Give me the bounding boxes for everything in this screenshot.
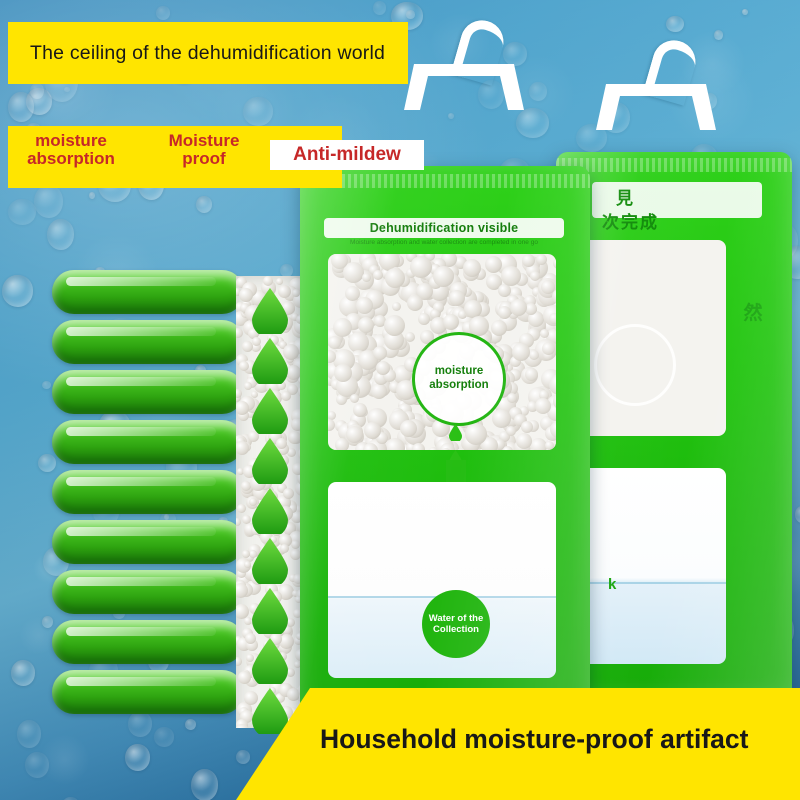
footer-text: Household moisture-proof artifact: [320, 724, 748, 755]
footer-banner: Household moisture-proof artifact: [236, 688, 800, 800]
hanger-bar: [596, 84, 716, 130]
desiccant-rod: [52, 370, 244, 414]
back-bag-seal: [556, 158, 792, 172]
dehumidifier-bag-front: Dehumidification visible Moisture absorp…: [300, 166, 590, 714]
back-chinese-line-1: 見: [616, 184, 635, 209]
desiccant-rod: [52, 470, 244, 514]
front-title-pill: Dehumidification visible: [324, 218, 564, 238]
hanger-bar: [404, 64, 524, 110]
headline-text: The ceiling of the dehumidification worl…: [30, 42, 385, 65]
back-word-label: k: [608, 576, 616, 593]
back-waterline: [576, 582, 726, 584]
hanger-back: [590, 40, 722, 152]
desiccant-rod-stack: [52, 270, 252, 730]
front-subtitle: Moisture absorption and water collection…: [328, 238, 560, 247]
back-window-bottom: [576, 468, 726, 664]
feature-tag-anti-mildew: Anti-mildew: [270, 140, 424, 170]
back-circle-mark: [594, 324, 676, 406]
water-collection-line-1: Water of the: [429, 613, 484, 624]
moisture-absorption-line-1: moisture: [435, 365, 484, 379]
headline-banner: The ceiling of the dehumidification worl…: [8, 22, 408, 84]
moisture-absorption-badge: moisture absorption: [412, 332, 506, 426]
desiccant-rod: [52, 320, 244, 364]
feature-tag-moisture-absorption: moisture absorption: [16, 132, 126, 168]
moisture-absorption-line-2: absorption: [429, 379, 488, 393]
feature-tag-moisture-proof: Moisture proof: [150, 132, 258, 168]
desiccant-rod: [52, 670, 244, 714]
desiccant-rod: [52, 620, 244, 664]
front-bag-seal: [300, 174, 590, 188]
water-collection-badge: Water of the Collection: [422, 590, 490, 658]
product-photo-scene: 見 次完成 然 k Dehumidification visible Moist…: [0, 0, 800, 800]
dehumidifier-bag-back: 見 次完成 然 k: [556, 152, 792, 700]
desiccant-rod: [52, 570, 244, 614]
desiccant-rod: [52, 520, 244, 564]
back-chinese-vertical: 然: [740, 304, 766, 324]
back-chinese-line-2: 次完成: [602, 208, 659, 233]
hanger-front: [398, 20, 530, 132]
desiccant-rod: [52, 270, 244, 314]
water-collection-line-2: Collection: [433, 624, 479, 635]
desiccant-rod: [52, 420, 244, 464]
